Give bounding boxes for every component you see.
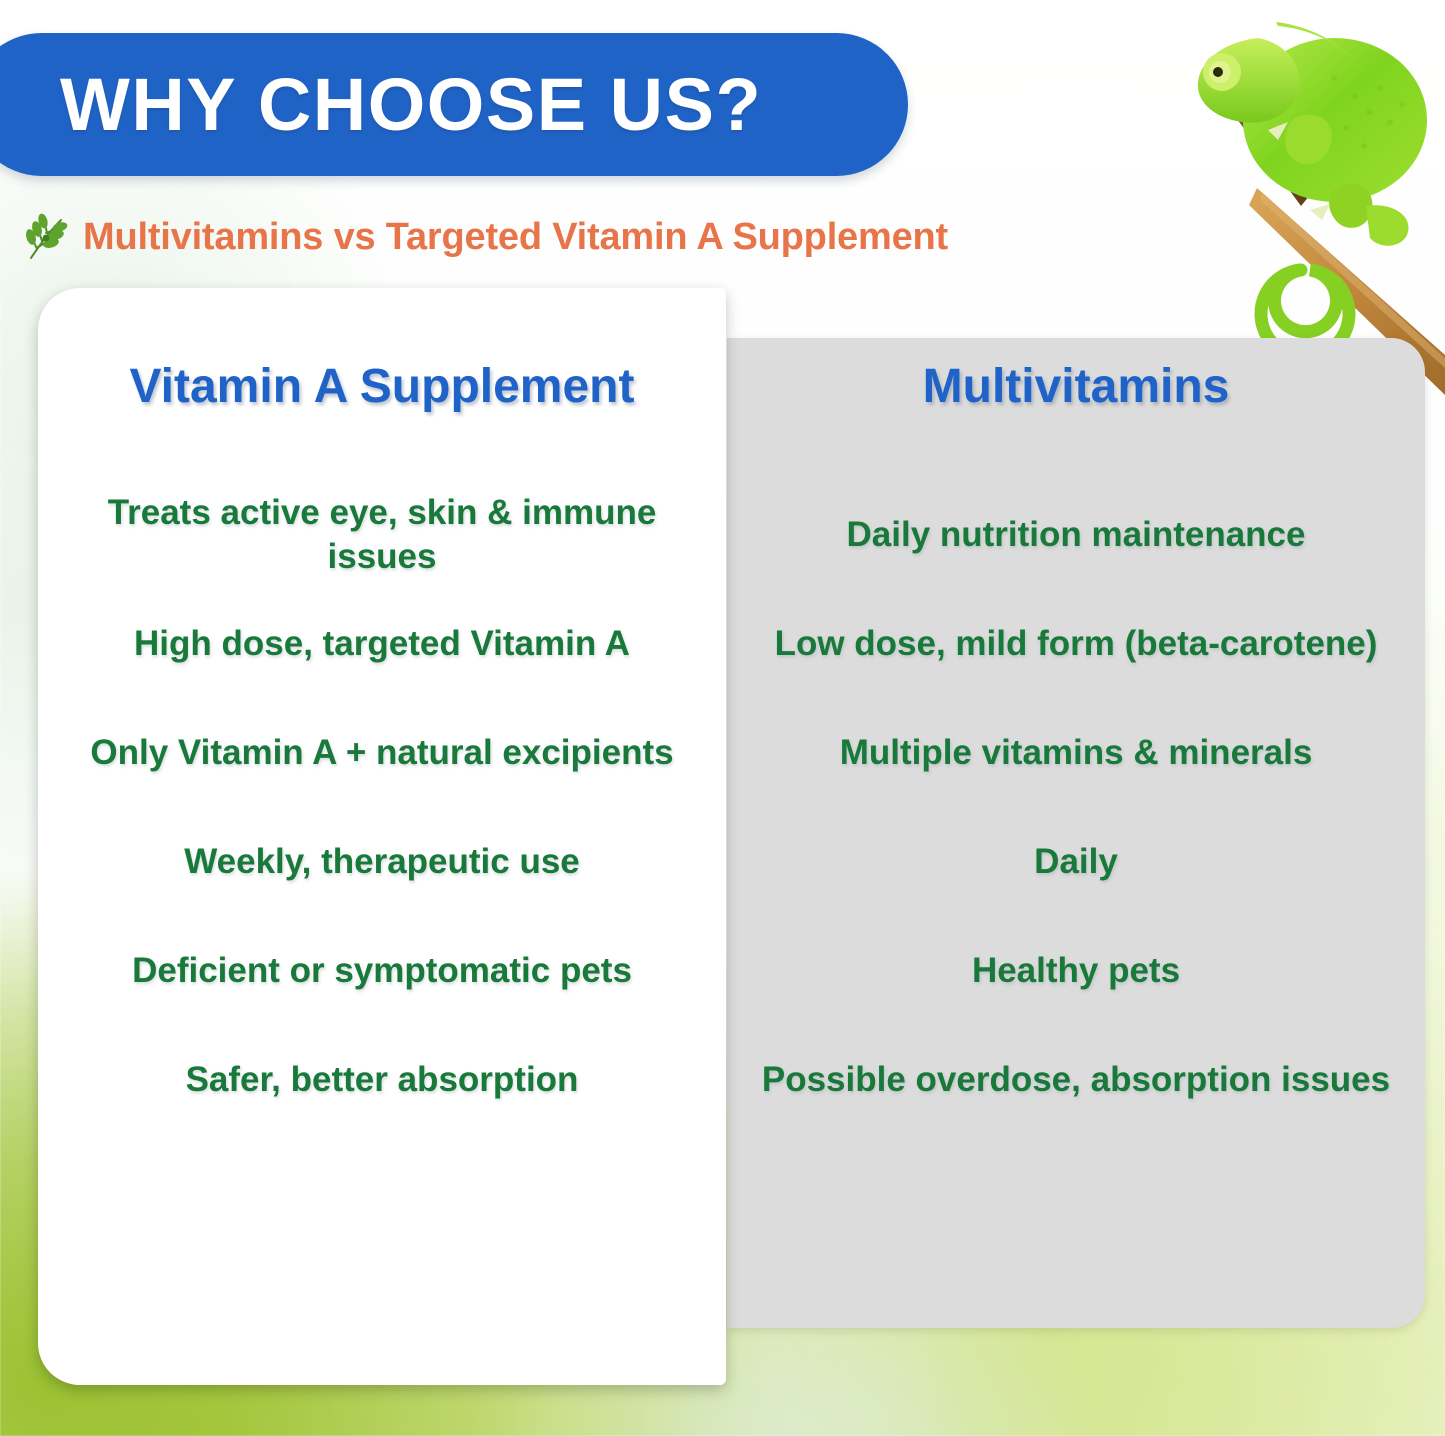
list-item: Weekly, therapeutic use xyxy=(60,807,704,916)
column-heading-vitamin-a: Vitamin A Supplement xyxy=(60,352,704,422)
list-item: Daily xyxy=(741,807,1411,916)
subtitle-text: Multivitamins vs Targeted Vitamin A Supp… xyxy=(83,216,948,259)
list-item: Treats active eye, skin & immune issues xyxy=(60,480,704,589)
list-item: High dose, targeted Vitamin A xyxy=(60,589,704,698)
list-item: Low dose, mild form (beta-carotene) xyxy=(741,589,1411,698)
list-item: Daily nutrition maintenance xyxy=(741,480,1411,589)
subtitle: Multivitamins vs Targeted Vitamin A Supp… xyxy=(25,212,948,262)
column-heading-multivitamins: Multivitamins xyxy=(741,352,1411,422)
vitamin-a-feature-list: Treats active eye, skin & immune issues … xyxy=(60,480,704,1134)
list-item: Multiple vitamins & minerals xyxy=(741,698,1411,807)
list-item: Possible overdose, absorption issues xyxy=(741,1025,1411,1134)
leaf-sprig-icon xyxy=(25,212,69,262)
multivitamins-feature-list: Daily nutrition maintenance Low dose, mi… xyxy=(741,480,1411,1134)
column-multivitamins: Multivitamins Daily nutrition maintenanc… xyxy=(727,352,1425,1134)
list-item: Deficient or symptomatic pets xyxy=(60,916,704,1025)
page-title: WHY CHOOSE US? xyxy=(60,68,762,142)
column-vitamin-a-supplement: Vitamin A Supplement Treats active eye, … xyxy=(38,352,726,1134)
list-item: Healthy pets xyxy=(741,916,1411,1025)
list-item: Only Vitamin A + natural excipients xyxy=(60,698,704,807)
list-item: Safer, better absorption xyxy=(60,1025,704,1134)
header-banner: WHY CHOOSE US? xyxy=(0,33,908,176)
